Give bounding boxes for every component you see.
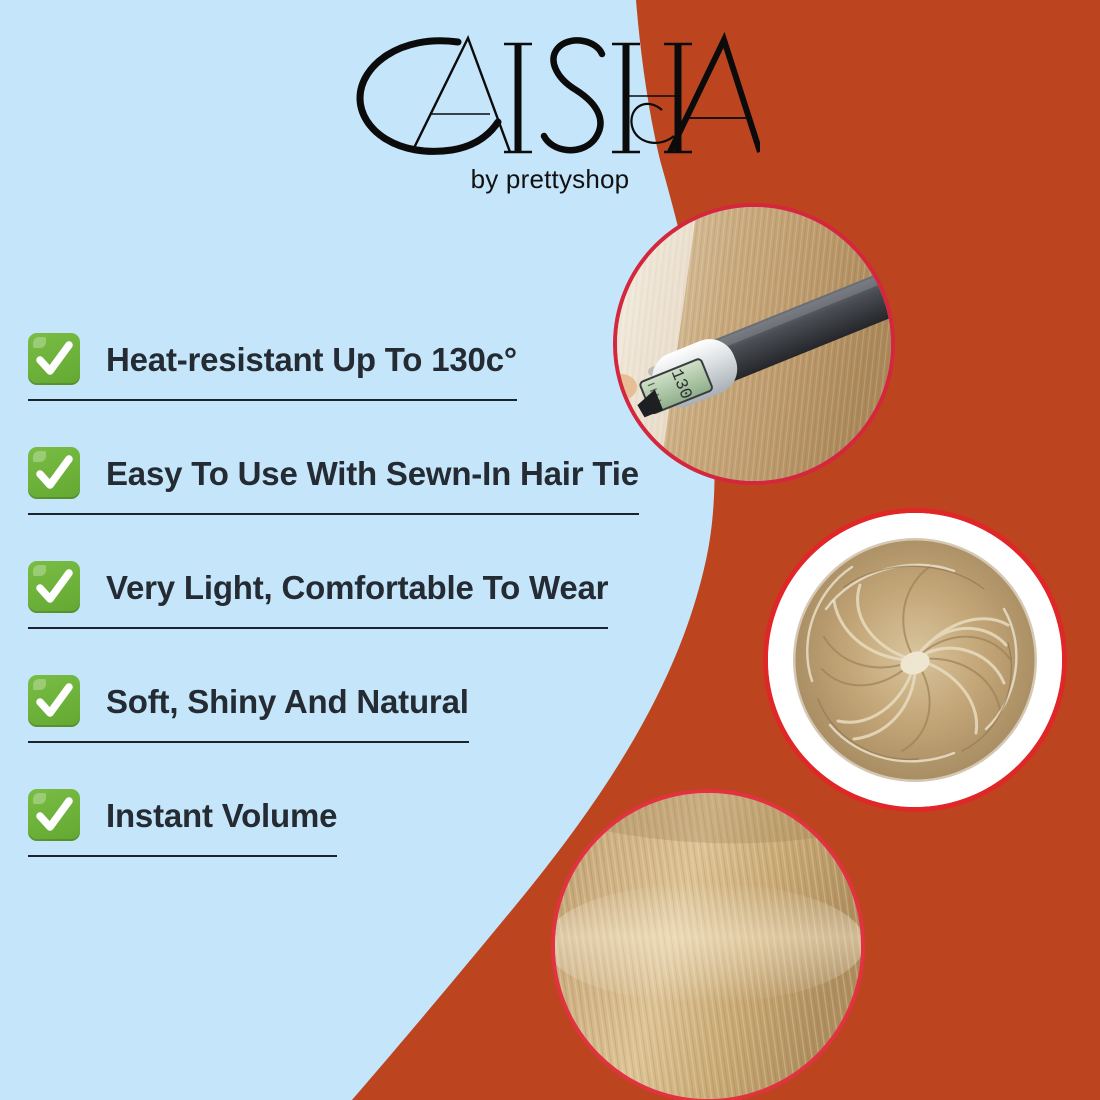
- feature-label: Soft, Shiny And Natural: [106, 685, 469, 718]
- check-icon: [28, 561, 80, 613]
- feature-item: Easy To Use With Sewn-In Hair Tie: [28, 447, 639, 499]
- feature-item: Soft, Shiny And Natural: [28, 675, 469, 727]
- photo-flat-iron-on-hair: 130: [613, 203, 895, 485]
- check-icon: [28, 447, 80, 499]
- feature-label: Easy To Use With Sewn-In Hair Tie: [106, 457, 639, 490]
- check-icon: [28, 333, 80, 385]
- feature-underline: [28, 741, 469, 743]
- feature-list: Heat-resistant Up To 130c° Easy To Use W…: [28, 333, 688, 841]
- feature-item: Heat-resistant Up To 130c°: [28, 333, 517, 385]
- feature-underline: [28, 399, 517, 401]
- feature-underline: [28, 513, 639, 515]
- infographic-canvas: by prettyshop Heat-resistant Up To 130c°…: [0, 0, 1100, 1100]
- feature-item: Instant Volume: [28, 789, 337, 841]
- feature-label: Very Light, Comfortable To Wear: [106, 571, 608, 604]
- feature-item: Very Light, Comfortable To Wear: [28, 561, 608, 613]
- feature-label: Instant Volume: [106, 799, 337, 832]
- feature-underline: [28, 855, 337, 857]
- photo-straight-hair-texture: [551, 789, 865, 1100]
- check-icon: [28, 675, 80, 727]
- feature-label: Heat-resistant Up To 130c°: [106, 343, 517, 376]
- feature-underline: [28, 627, 608, 629]
- photo-hair-scrunchie-bun: [763, 508, 1067, 812]
- check-icon: [28, 789, 80, 841]
